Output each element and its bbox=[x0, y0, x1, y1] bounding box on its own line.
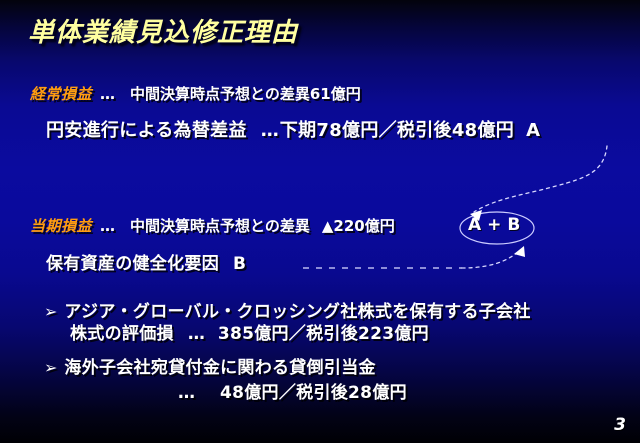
bullet-arrow-icon: ➢ bbox=[44, 358, 57, 377]
section-net-profit-label: 当期損益 bbox=[30, 217, 92, 235]
section-net-profit-ellipsis: … bbox=[92, 217, 116, 235]
bullet-2-line-1: 海外子会社宛貸付金に関わる貸倒引当金 bbox=[57, 358, 375, 378]
section-ordinary-profit-label: 経常損益 bbox=[30, 85, 92, 103]
arrowhead-from-b bbox=[514, 246, 525, 257]
bullet-2-second-line: …48億円／税引後28億円 bbox=[178, 385, 407, 403]
bullet-1-line-1: アジア・グローバル・クロッシング社株式を保有する子会社 bbox=[57, 302, 530, 322]
callout-term-b: B bbox=[507, 215, 526, 235]
net-profit-factor-text: 保有資産の健全化要因 bbox=[46, 254, 219, 274]
section-net-profit-description: 中間決算時点予想との差異 bbox=[116, 217, 310, 235]
section-net-profit-header: 当期損益…中間決算時点予想との差異▲220億円 bbox=[30, 218, 395, 235]
bullet-2-ellipsis: … bbox=[178, 383, 196, 403]
ordinary-profit-detail-value: 下期78億円／税引後48億円 bbox=[280, 120, 514, 141]
presentation-slide: 単体業績見込修正理由 経常損益…中間決算時点予想との差異61億円 円安進行による… bbox=[0, 0, 640, 443]
net-profit-tag-b: B bbox=[219, 254, 246, 274]
list-item: ➢アジア・グローバル・クロッシング社株式を保有する子会社 bbox=[44, 304, 531, 322]
section-ordinary-profit-description: 中間決算時点予想との差異61億円 bbox=[116, 85, 361, 103]
bullet-1-ellipsis: … bbox=[174, 324, 206, 344]
list-item: ➢海外子会社宛貸付金に関わる貸倒引当金 bbox=[44, 360, 376, 378]
bullet-arrow-icon: ➢ bbox=[44, 302, 57, 321]
page-number: 3 bbox=[614, 417, 626, 435]
ordinary-profit-detail-line: 円安進行による為替差益…下期78億円／税引後48億円A bbox=[46, 122, 540, 141]
section-net-profit-value: ▲220億円 bbox=[310, 217, 395, 235]
callout-operator-plus: + bbox=[487, 215, 507, 235]
dashed-arrow-from-a bbox=[474, 146, 607, 212]
dashed-arrow-from-b bbox=[462, 252, 518, 268]
section-ordinary-profit-header: 経常損益…中間決算時点予想との差異61億円 bbox=[30, 86, 361, 103]
bullet-1-second-line: 株式の評価損…385億円／税引後223億円 bbox=[70, 326, 429, 344]
callout-term-a: A bbox=[468, 215, 487, 235]
bullet-1-line-2: 株式の評価損 bbox=[70, 324, 174, 344]
net-profit-factor-line: 保有資産の健全化要因B bbox=[46, 256, 246, 274]
callout-a-plus-b-label: A+B bbox=[468, 217, 526, 235]
bullet-2-value: 48億円／税引後28億円 bbox=[196, 383, 407, 403]
bullet-1-value: 385億円／税引後223億円 bbox=[206, 324, 429, 344]
page-title: 単体業績見込修正理由 bbox=[28, 20, 298, 47]
ordinary-profit-tag-a: A bbox=[514, 120, 540, 141]
ordinary-profit-detail-ellipsis: … bbox=[247, 120, 280, 141]
ordinary-profit-detail-text: 円安進行による為替差益 bbox=[46, 120, 247, 141]
section-ordinary-profit-ellipsis: … bbox=[92, 85, 116, 103]
